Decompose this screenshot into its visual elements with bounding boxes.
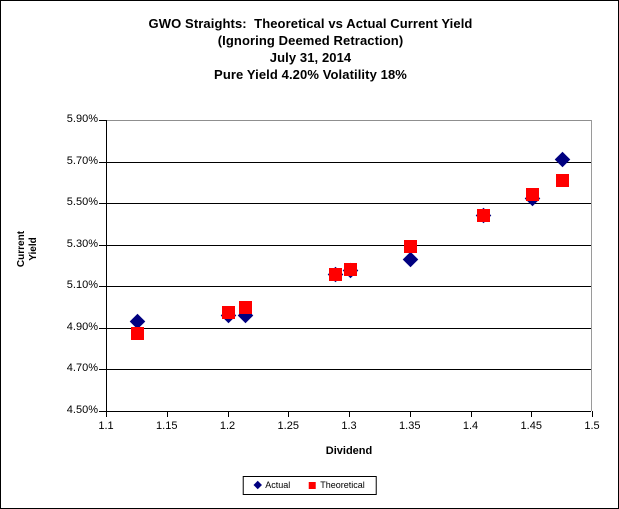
data-point-theoretical [526,188,539,201]
y-axis-tick-label: 5.50% [42,196,98,208]
gridline [107,162,591,163]
y-axis-tick-label: 5.70% [42,155,98,167]
diamond-marker-icon [253,481,261,489]
x-axis-tick [228,411,229,417]
x-axis-tick-label: 1.2 [203,420,253,432]
x-axis-tick-label: 1.1 [81,420,131,432]
y-axis-tick [99,203,106,204]
data-point-theoretical [344,263,357,276]
y-axis-title-line-1: Current [16,229,28,269]
x-axis-tick [106,411,107,417]
legend-label-theoretical: Theoretical [320,480,365,490]
gridline [107,203,591,204]
x-axis-tick-label: 1.3 [324,420,374,432]
legend-item-actual[interactable]: Actual [254,480,290,490]
legend-label-actual: Actual [265,480,290,490]
x-axis-tick [288,411,289,417]
x-axis-tick [531,411,532,417]
plot-area [106,120,592,411]
gridline [107,328,591,329]
x-axis-tick [471,411,472,417]
x-axis-tick-label: 1.5 [567,420,617,432]
gridline [107,120,591,121]
data-point-actual [403,251,419,267]
y-axis-tick [99,411,106,412]
y-axis-tick-label: 4.70% [42,362,98,374]
x-axis-tick [410,411,411,417]
data-point-theoretical [222,306,235,319]
chart-legend: Actual Theoretical [242,476,377,495]
data-point-actual [555,152,571,168]
chart-title-line-3: July 31, 2014 [1,49,619,66]
x-axis-tick-label: 1.35 [385,420,435,432]
x-axis-tick-label: 1.15 [142,420,192,432]
x-axis-tick [349,411,350,417]
y-axis-tick [99,286,106,287]
y-axis-tick [99,369,106,370]
x-axis-tick-label: 1.45 [506,420,556,432]
x-axis-tick-label: 1.25 [263,420,313,432]
legend-item-theoretical[interactable]: Theoretical [308,480,365,490]
y-axis-tick-label: 5.10% [42,279,98,291]
y-axis-title: Current Yield [16,229,40,269]
data-point-theoretical [404,240,417,253]
data-point-theoretical [239,301,252,314]
chart-title-line-4: Pure Yield 4.20% Volatility 18% [1,66,619,83]
x-axis-tick-label: 1.4 [446,420,496,432]
data-point-theoretical [556,174,569,187]
y-axis-tick [99,120,106,121]
y-axis-tick [99,245,106,246]
y-axis-tick [99,162,106,163]
y-axis-tick [99,328,106,329]
y-axis-title-line-2: Yield [28,229,40,269]
x-axis-tick [167,411,168,417]
chart-title: GWO Straights: Theoretical vs Actual Cur… [1,15,619,83]
data-point-theoretical [477,209,490,222]
y-axis-tick-label: 5.90% [42,113,98,125]
chart-container: GWO Straights: Theoretical vs Actual Cur… [0,0,619,509]
data-point-theoretical [131,327,144,340]
data-point-theoretical [329,268,342,281]
x-axis-title: Dividend [106,445,592,457]
y-axis-tick-label: 5.30% [42,238,98,250]
square-marker-icon [308,482,315,489]
gridline [107,286,591,287]
chart-title-line-1: GWO Straights: Theoretical vs Actual Cur… [1,15,619,32]
gridline [107,369,591,370]
y-axis-tick-label: 4.50% [42,404,98,416]
y-axis-tick-label: 4.90% [42,321,98,333]
x-axis-tick [592,411,593,417]
chart-title-line-2: (Ignoring Deemed Retraction) [1,32,619,49]
gridline [107,245,591,246]
